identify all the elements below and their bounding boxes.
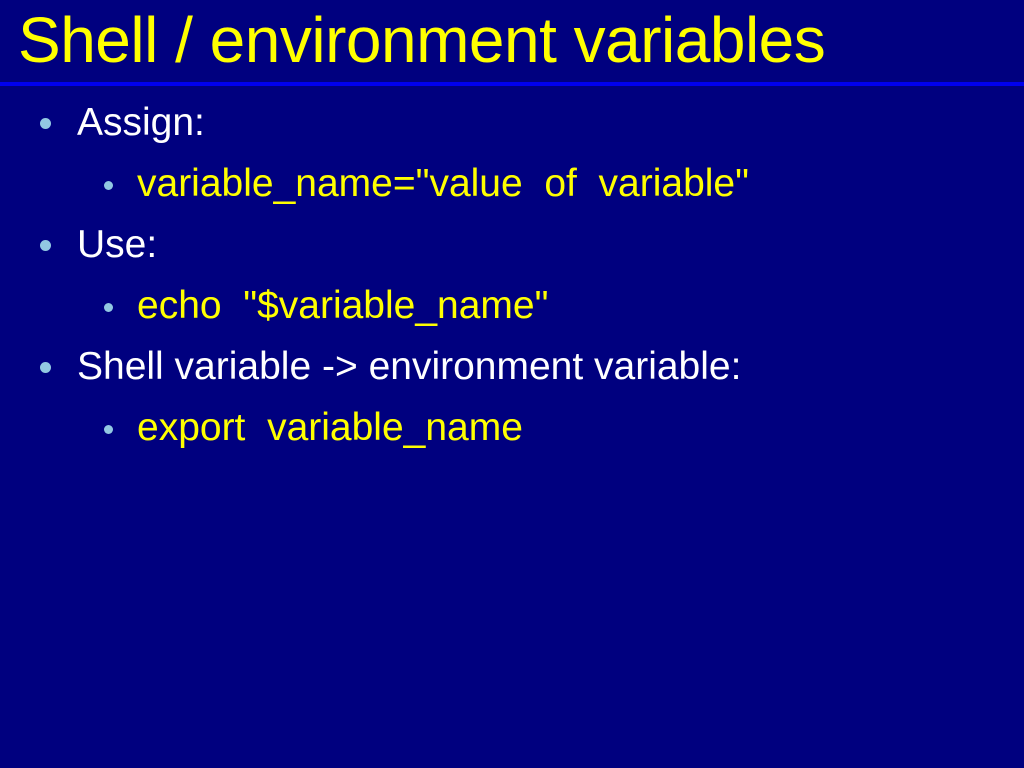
bullet-point-icon bbox=[40, 240, 51, 251]
bullet-item: Shell variable -> environment variable: bbox=[0, 340, 1024, 401]
bullet-item: variable_name="value of variable" bbox=[0, 157, 1024, 218]
bullet-point-icon bbox=[104, 303, 113, 312]
bullet-text: Use: bbox=[77, 218, 157, 272]
bullet-point-icon bbox=[104, 181, 113, 190]
bullet-text: export variable_name bbox=[137, 401, 523, 455]
slide-body: Assign: variable_name="value of variable… bbox=[0, 96, 1024, 462]
bullet-item: export variable_name bbox=[0, 401, 1024, 462]
bullet-point-icon bbox=[40, 118, 51, 129]
page-title: Shell / environment variables bbox=[18, 0, 1008, 82]
bullet-point-icon bbox=[104, 425, 113, 434]
title-divider-rule bbox=[0, 82, 1024, 86]
bullet-text: variable_name="value of variable" bbox=[137, 157, 749, 211]
bullet-text: echo "$variable_name" bbox=[137, 279, 548, 333]
bullet-item: Use: bbox=[0, 218, 1024, 279]
bullet-text: Assign: bbox=[77, 96, 205, 150]
bullet-item: Assign: bbox=[0, 96, 1024, 157]
bullet-item: echo "$variable_name" bbox=[0, 279, 1024, 340]
presentation-slide: Shell / environment variables Assign: va… bbox=[0, 0, 1024, 768]
bullet-text: Shell variable -> environment variable: bbox=[77, 340, 741, 394]
bullet-point-icon bbox=[40, 362, 51, 373]
